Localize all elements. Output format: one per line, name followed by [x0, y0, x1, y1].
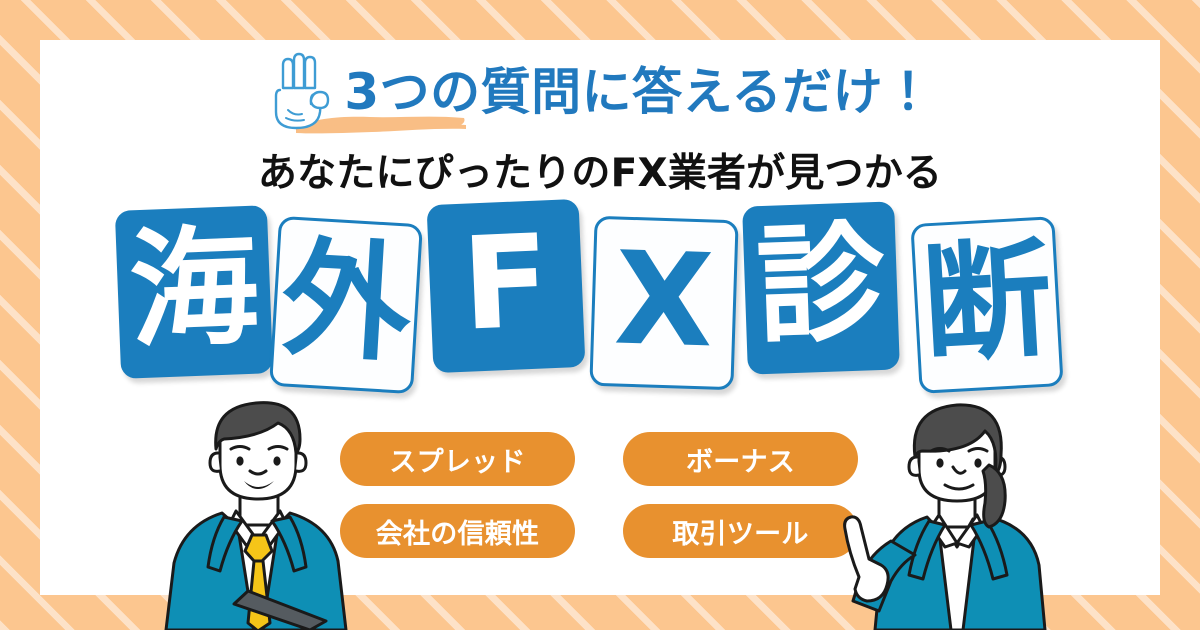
tile-glyph: F: [460, 218, 553, 350]
tag-pill-bonus[interactable]: ボーナス: [623, 432, 858, 486]
tag-pill-tools[interactable]: 取引ツール: [623, 504, 858, 558]
businesswoman-pointing-illustration: [835, 395, 1080, 630]
title-tile-2: F: [427, 199, 586, 373]
tile-glyph: 断: [919, 236, 1054, 371]
title-tile-0: 海: [115, 205, 273, 379]
three-fingers-hand-icon: [266, 50, 338, 136]
headline-text: 3つの質問に答えるだけ！: [344, 67, 933, 117]
subtitle-text: あなたにぴったりのFX業者が見つかる: [0, 142, 1200, 198]
title-tile-1: 外: [269, 216, 423, 394]
banner-root: 3つの質問に答えるだけ！ あなたにぴったりのFX業者が見つかる 海 外 F X …: [0, 0, 1200, 630]
businessman-illustration: [150, 395, 380, 630]
title-tile-5: 断: [910, 216, 1063, 394]
title-tile-4: 診: [742, 201, 900, 374]
tile-glyph: X: [613, 235, 716, 366]
title-tile-3: X: [589, 216, 738, 390]
tile-glyph: 海: [127, 224, 260, 357]
title-tiles: 海 外 F X 診 断: [0, 198, 1200, 398]
tile-glyph: 外: [278, 235, 413, 370]
headline: 3つの質問に答えるだけ！: [0, 48, 1200, 136]
tile-glyph: 診: [755, 220, 887, 352]
tag-list: スプレッド ボーナス 会社の信頼性 取引ツール: [340, 432, 860, 558]
